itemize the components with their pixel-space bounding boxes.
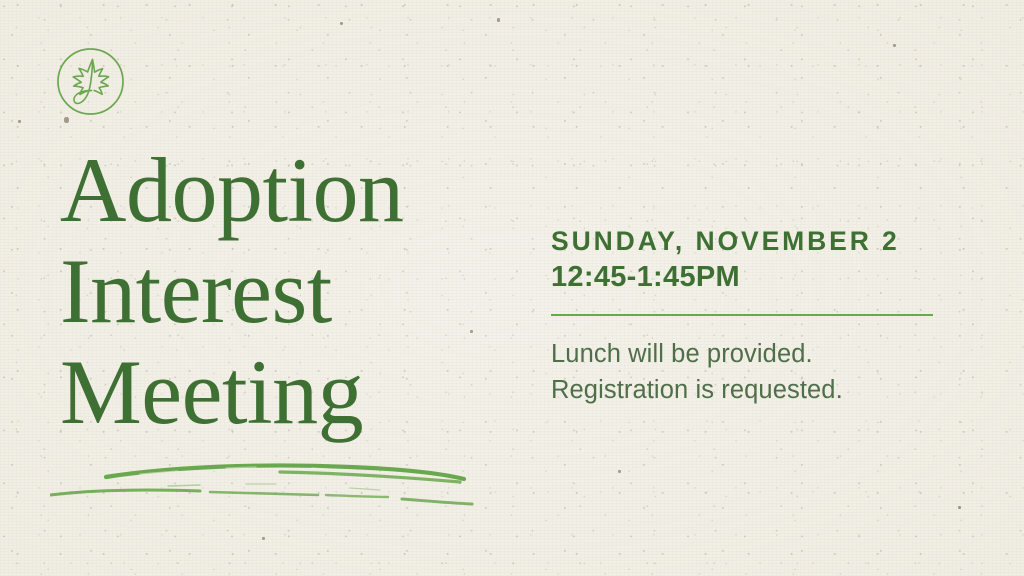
paper-fleck — [497, 18, 500, 22]
headline-line-3: Meeting — [60, 342, 530, 443]
headline-line-2: Interest — [60, 241, 530, 342]
poster-canvas: Adoption Interest Meeting SUNDAY, NOVEM — [0, 0, 1024, 576]
paper-fleck — [18, 120, 21, 123]
paper-fleck — [958, 506, 961, 509]
event-time: 12:45-1:45PM — [551, 259, 1001, 295]
paper-fleck — [618, 470, 621, 473]
leaf-icon — [56, 47, 125, 116]
event-note-2: Registration is requested. — [551, 372, 1001, 408]
leaf-in-circle-logo — [56, 47, 125, 116]
paper-fleck — [893, 44, 896, 47]
event-date: SUNDAY, NOVEMBER 2 — [551, 224, 1001, 259]
details-block: SUNDAY, NOVEMBER 2 12:45-1:45PM Lunch wi… — [551, 224, 1001, 408]
paper-fleck — [262, 537, 265, 540]
event-note-1: Lunch will be provided. — [551, 336, 1001, 372]
brush-stroke-underline — [50, 448, 480, 510]
headline-line-1: Adoption — [60, 140, 530, 241]
paper-fleck — [340, 22, 343, 25]
paper-fleck — [64, 117, 69, 123]
brush-stroke-icon — [50, 448, 480, 510]
details-divider — [551, 314, 933, 316]
headline-block: Adoption Interest Meeting — [60, 140, 530, 443]
